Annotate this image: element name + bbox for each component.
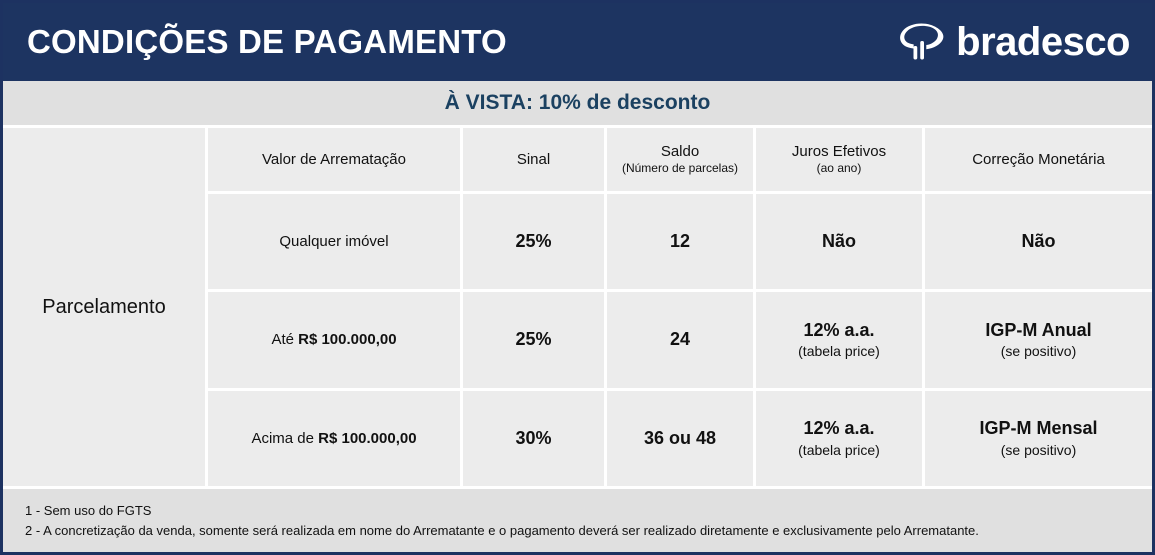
column-header-sinal: Sinal	[463, 128, 604, 191]
cell-saldo: 24	[607, 292, 753, 387]
conditions-table: Parcelamento Valor de Arrematação Sinal …	[3, 128, 1152, 486]
column-header-juros-subtitle: (ao ano)	[817, 162, 862, 176]
cell-sinal-value: 25%	[515, 329, 551, 351]
footnotes: 1 - Sem uso do FGTS 2 - A concretização …	[3, 486, 1152, 552]
cell-valor-text: Até R$ 100.000,00	[271, 331, 396, 348]
table-header-row: Valor de Arrematação Sinal Saldo (Número…	[208, 128, 1152, 191]
table-row: Qualquer imóvel 25% 12 Não Não	[208, 194, 1152, 289]
cell-sinal: 25%	[463, 194, 604, 289]
cell-sinal: 25%	[463, 292, 604, 387]
cell-correcao-value: IGP-M Mensal	[979, 418, 1097, 440]
cell-valor-prefix: Acima de	[251, 430, 318, 447]
column-header-saldo-title: Saldo	[661, 143, 699, 160]
cell-valor: Acima de R$ 100.000,00	[208, 391, 460, 486]
cell-correcao: Não	[925, 194, 1152, 289]
cell-juros: 12% a.a. (tabela price)	[756, 391, 922, 486]
cell-juros: Não	[756, 194, 922, 289]
column-header-saldo: Saldo (Número de parcelas)	[607, 128, 753, 191]
discount-text: À VISTA: 10% de desconto	[445, 91, 711, 115]
row-group-label: Parcelamento	[42, 296, 165, 319]
cell-correcao: IGP-M Mensal (se positivo)	[925, 391, 1152, 486]
cell-valor-text: Qualquer imóvel	[279, 233, 388, 250]
brand-name: bradesco	[956, 22, 1130, 62]
page-title: CONDIÇÕES DE PAGAMENTO	[27, 23, 507, 61]
footnote-1: 1 - Sem uso do FGTS	[25, 501, 1152, 521]
cell-juros: 12% a.a. (tabela price)	[756, 292, 922, 387]
cell-correcao: IGP-M Anual (se positivo)	[925, 292, 1152, 387]
cell-juros-value: 12% a.a.	[803, 320, 874, 342]
card-header: CONDIÇÕES DE PAGAMENTO bradesco	[3, 3, 1152, 81]
column-header-correcao: Correção Monetária	[925, 128, 1152, 191]
column-header-valor: Valor de Arrematação	[208, 128, 460, 191]
cell-correcao-note: (se positivo)	[1001, 343, 1076, 360]
cell-valor-prefix: Até	[271, 331, 298, 348]
column-header-sinal-title: Sinal	[517, 151, 550, 168]
row-group-label-cell: Parcelamento	[3, 128, 205, 486]
cell-valor-amount: R$ 100.000,00	[318, 430, 416, 447]
cell-saldo-value: 24	[670, 329, 690, 351]
cell-correcao-value: IGP-M Anual	[985, 320, 1091, 342]
table-grid: Valor de Arrematação Sinal Saldo (Número…	[208, 128, 1152, 486]
bradesco-tree-logo-icon	[896, 18, 950, 66]
cell-saldo: 36 ou 48	[607, 391, 753, 486]
cell-juros-note: (tabela price)	[798, 343, 880, 360]
column-header-valor-title: Valor de Arrematação	[262, 151, 406, 168]
cell-valor-amount: R$ 100.000,00	[298, 331, 396, 348]
cell-correcao-value: Não	[1021, 231, 1055, 253]
cell-juros-value: 12% a.a.	[803, 418, 874, 440]
cell-saldo-value: 36 ou 48	[644, 428, 716, 450]
cell-valor-text: Acima de R$ 100.000,00	[251, 430, 416, 447]
cell-valor: Até R$ 100.000,00	[208, 292, 460, 387]
cell-saldo-value: 12	[670, 231, 690, 253]
cell-correcao-note: (se positivo)	[1001, 442, 1076, 459]
cell-juros-note: (tabela price)	[798, 442, 880, 459]
discount-banner: À VISTA: 10% de desconto	[3, 81, 1152, 128]
bradesco-brand: bradesco	[896, 18, 1130, 66]
column-header-juros: Juros Efetivos (ao ano)	[756, 128, 922, 191]
footnote-2: 2 - A concretização da venda, somente se…	[25, 521, 1152, 541]
cell-juros-value: Não	[822, 231, 856, 253]
cell-sinal: 30%	[463, 391, 604, 486]
cell-sinal-value: 30%	[515, 428, 551, 450]
payment-conditions-card: CONDIÇÕES DE PAGAMENTO bradesco À VISTA:…	[0, 0, 1155, 555]
cell-valor-prefix: Qualquer imóvel	[279, 233, 388, 250]
column-header-juros-title: Juros Efetivos	[792, 143, 886, 160]
table-row: Acima de R$ 100.000,00 30% 36 ou 48 12% …	[208, 391, 1152, 486]
cell-saldo: 12	[607, 194, 753, 289]
column-header-saldo-subtitle: (Número de parcelas)	[622, 162, 738, 176]
cell-sinal-value: 25%	[515, 231, 551, 253]
table-row: Até R$ 100.000,00 25% 24 12% a.a. (tabel…	[208, 292, 1152, 387]
cell-valor: Qualquer imóvel	[208, 194, 460, 289]
column-header-correcao-title: Correção Monetária	[972, 151, 1105, 168]
